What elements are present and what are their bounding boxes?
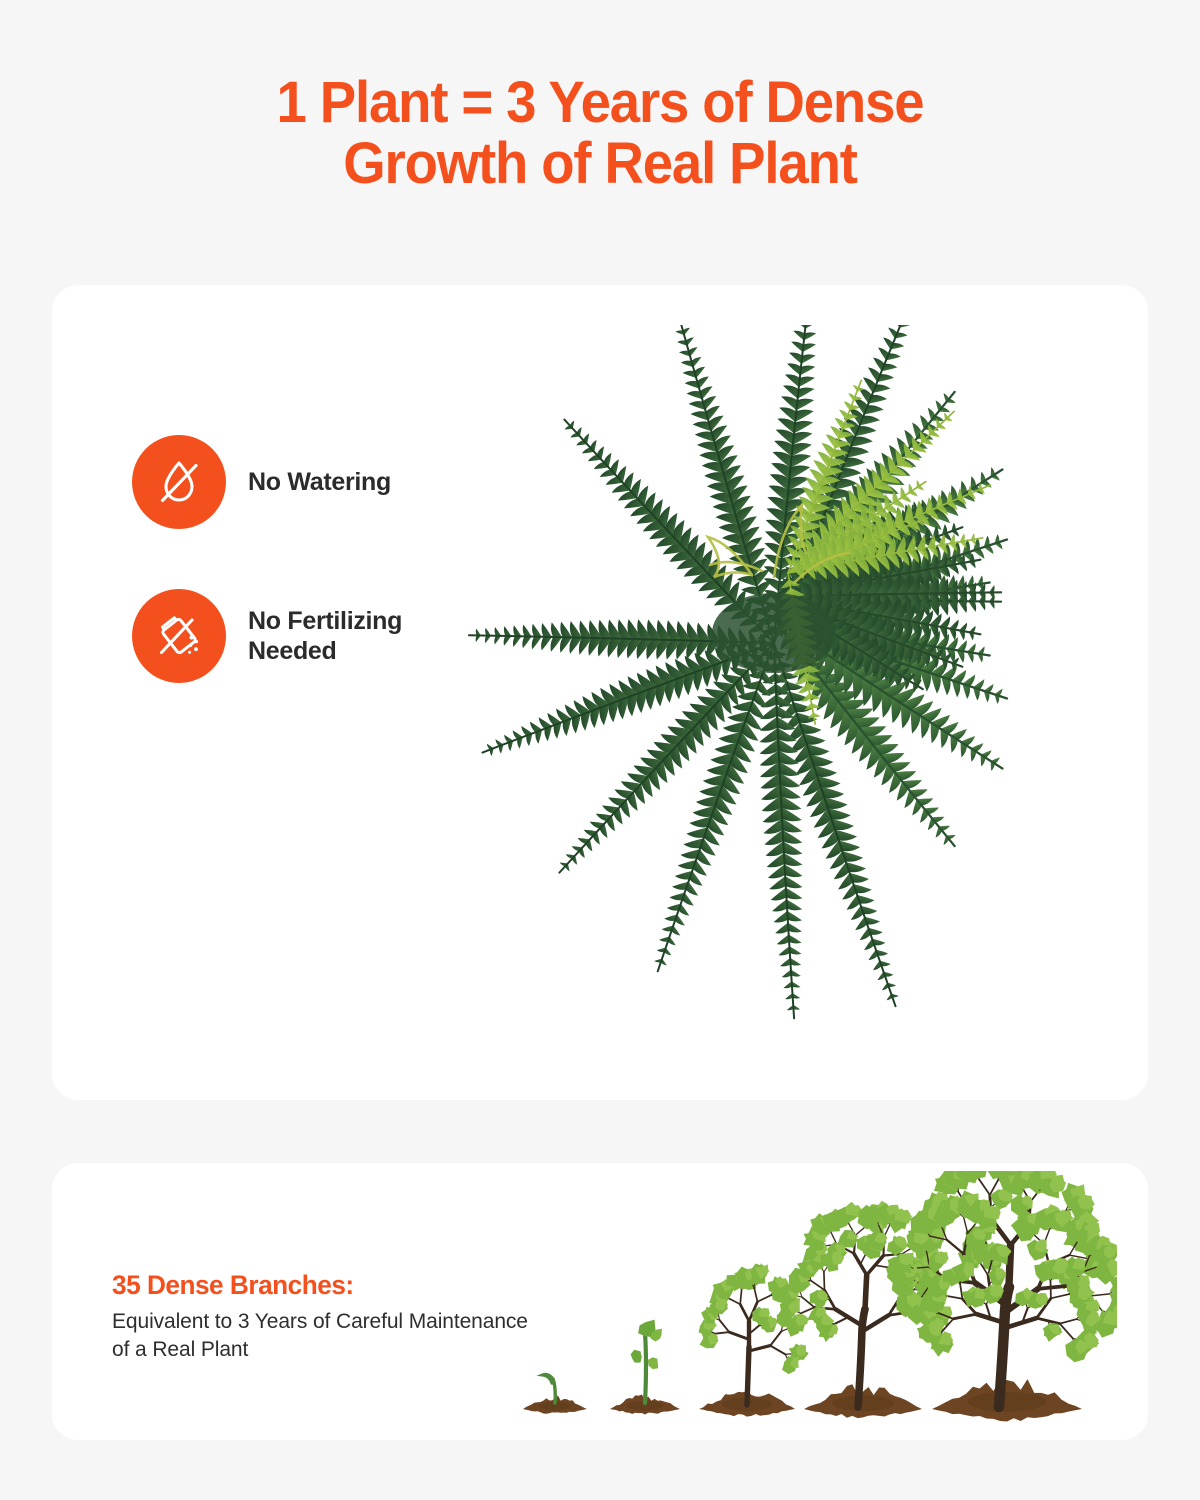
- feature-label: No Watering: [248, 467, 391, 498]
- no-fertilizing-icon: [132, 589, 226, 683]
- hero-card: No Watering: [52, 285, 1148, 1100]
- branches-subtitle: Equivalent to 3 Years of Careful Mainten…: [112, 1308, 532, 1364]
- feature-item-no-watering: No Watering: [132, 435, 492, 529]
- page-title-line-1: 1 Plant = 3 Years of Dense: [36, 72, 1164, 133]
- feature-list: No Watering: [132, 435, 492, 743]
- feature-label: No FertilizingNeeded: [248, 606, 402, 667]
- hero-fern-image: [402, 325, 1142, 1065]
- no-watering-icon: [132, 435, 226, 529]
- page-title: 1 Plant = 3 Years of Dense Growth of Rea…: [36, 72, 1164, 195]
- feature-item-no-fertilizing: No FertilizingNeeded: [132, 589, 492, 683]
- tree-growth-stages-illustration: [507, 1171, 1117, 1439]
- branches-card: 35 Dense Branches: Equivalent to 3 Years…: [52, 1163, 1148, 1440]
- branches-title: 35 Dense Branches:: [112, 1270, 519, 1301]
- infographic-page: 1 Plant = 3 Years of Dense Growth of Rea…: [0, 0, 1200, 1500]
- page-title-line-2: Growth of Real Plant: [36, 133, 1164, 194]
- branches-text-block: 35 Dense Branches: Equivalent to 3 Years…: [112, 1270, 532, 1364]
